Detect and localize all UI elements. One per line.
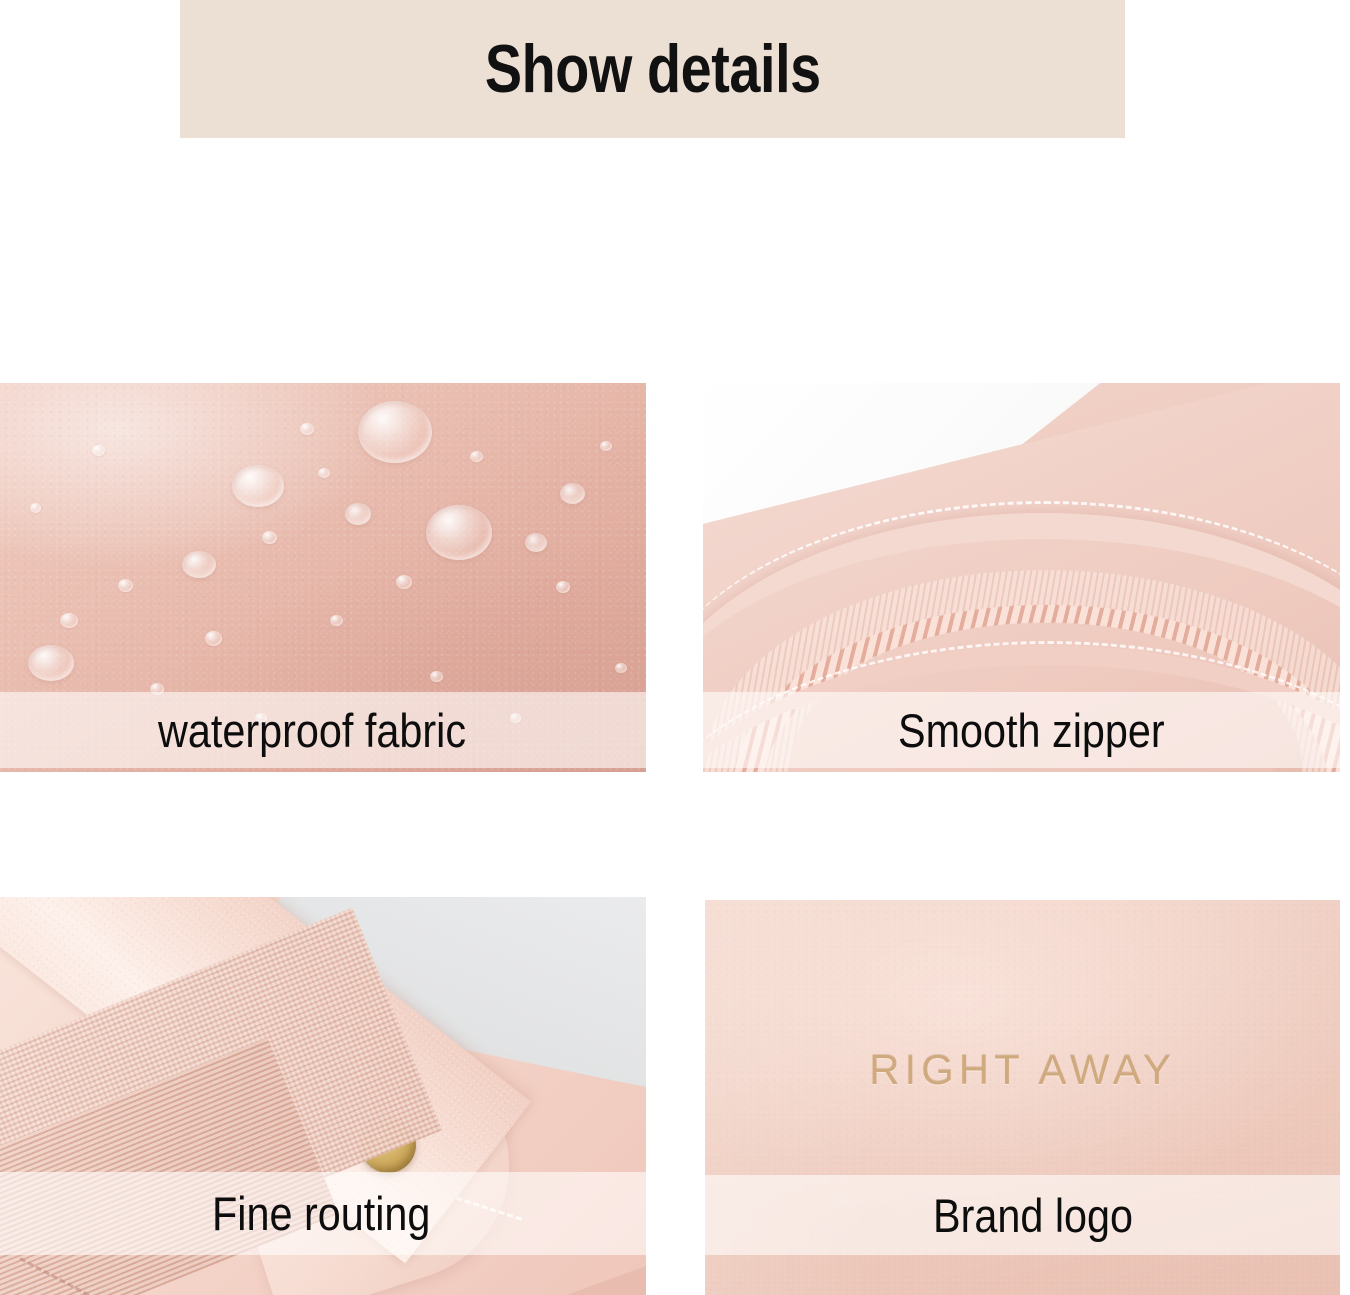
water-droplet-medium	[560, 483, 585, 504]
embossed-brand-text: RIGHT AWAY	[705, 1046, 1340, 1094]
caption-label-brand-logo: Brand logo	[933, 1192, 1133, 1239]
water-droplet-small	[300, 423, 314, 435]
caption-label-waterproof: waterproof fabric	[158, 707, 466, 754]
water-droplet-small	[600, 441, 612, 451]
water-droplet-small	[60, 613, 78, 628]
water-droplet-small	[262, 531, 277, 544]
page-title: Show details	[485, 35, 821, 103]
water-droplet-small	[318, 468, 330, 478]
caption-band-zipper: Smooth zipper	[703, 692, 1340, 768]
caption-label-zipper: Smooth zipper	[898, 707, 1165, 754]
water-droplet-small	[615, 663, 627, 673]
water-droplet-medium	[28, 645, 74, 681]
water-droplet-small	[556, 581, 570, 593]
caption-band-routing: Fine routing	[0, 1172, 646, 1255]
water-droplet-small	[205, 631, 222, 646]
water-droplet-small	[396, 575, 412, 589]
detail-panel-zipper: Smooth zipper	[703, 383, 1340, 772]
water-droplet-small	[30, 503, 41, 513]
water-droplet-small	[92, 445, 105, 456]
detail-panel-brand-logo: RIGHT AWAY Brand logo	[705, 900, 1340, 1295]
water-droplet-small	[330, 615, 343, 626]
water-droplet-small	[430, 671, 443, 682]
detail-panel-routing: Fine routing	[0, 897, 646, 1295]
water-droplet-small	[470, 451, 483, 462]
detail-panel-waterproof: waterproof fabric	[0, 383, 646, 772]
water-droplet-large	[358, 401, 432, 463]
water-droplet-medium	[345, 503, 371, 525]
water-droplet-small	[118, 579, 133, 592]
caption-band-waterproof: waterproof fabric	[0, 692, 646, 768]
water-droplet-large	[232, 465, 284, 507]
caption-band-brand-logo: Brand logo	[705, 1175, 1340, 1255]
caption-label-routing: Fine routing	[212, 1190, 430, 1237]
water-droplet-medium	[182, 551, 216, 578]
header-banner: Show details	[180, 0, 1125, 138]
water-droplet-medium	[525, 533, 547, 552]
water-droplet-large	[426, 505, 492, 560]
